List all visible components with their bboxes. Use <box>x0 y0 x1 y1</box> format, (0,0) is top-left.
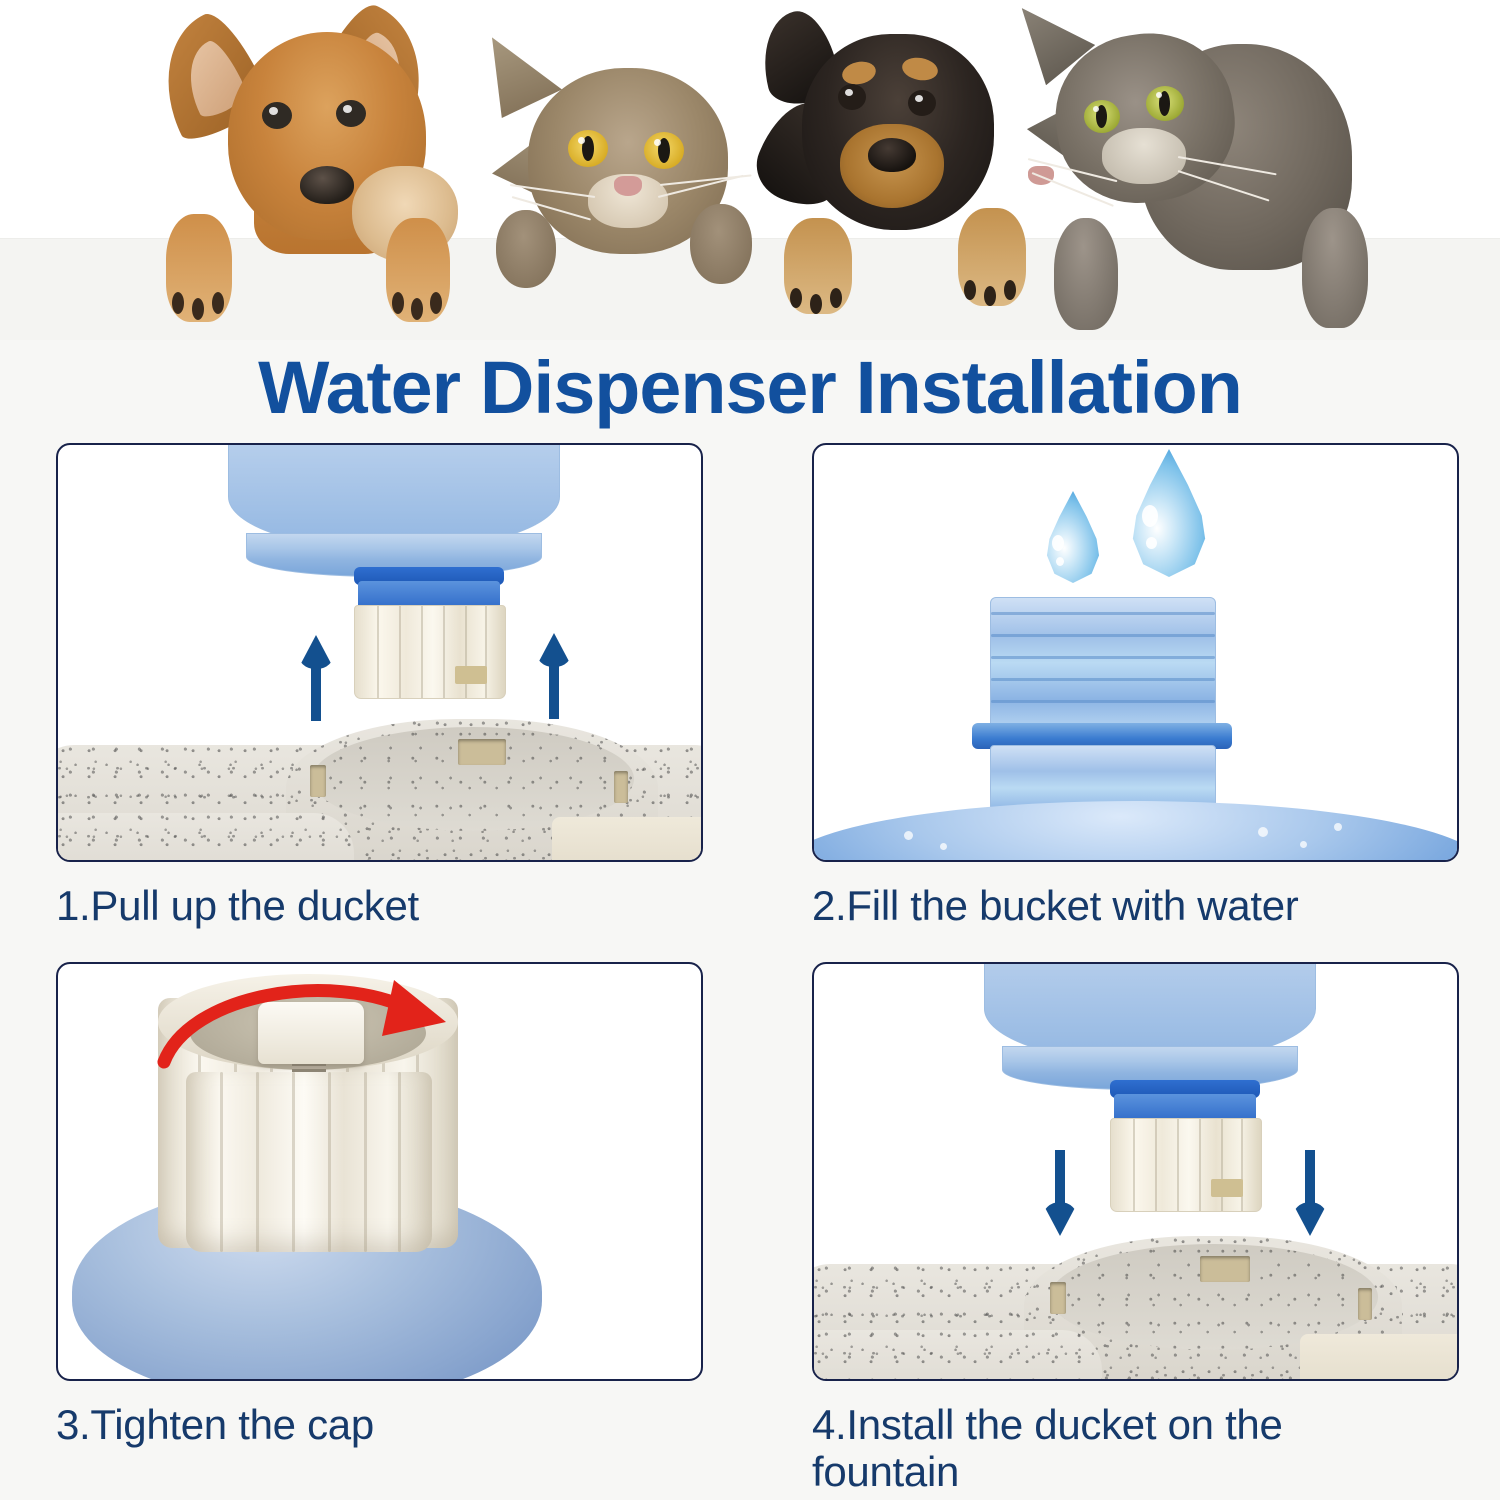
rotate-arrow-icon <box>150 976 470 1086</box>
fountain-slot-center-4 <box>1200 1256 1250 1282</box>
pet-photo-dog-ginger <box>150 6 500 326</box>
water-bead-5 <box>1334 823 1342 831</box>
step-card-4: 4.Install the ducket on the fountain <box>812 962 1457 1495</box>
step-1-image-panel <box>56 443 703 862</box>
fountain-slot-center <box>458 739 506 765</box>
step-4-image-panel <box>812 962 1459 1381</box>
step-3-illustration <box>58 964 701 1379</box>
pet-photo-cat-brown-tabby <box>492 34 772 326</box>
water-droplet-small-icon <box>1042 491 1104 583</box>
cat-eye-right <box>644 132 684 169</box>
gray-cat-paw-right <box>1302 208 1368 328</box>
cap-key-notch <box>455 666 487 684</box>
puppy-eye-right <box>908 90 936 116</box>
step-2-illustration <box>814 445 1457 860</box>
dog-paw-right <box>386 218 450 322</box>
step-card-3: 3.Tighten the cap <box>56 962 701 1448</box>
step-card-1: 1.Pull up the ducket <box>56 443 701 929</box>
fountain-front-lip-4 <box>812 1330 1102 1381</box>
cat-paw-right <box>690 204 752 284</box>
puppy-paw-right <box>958 208 1026 306</box>
pet-banner <box>0 0 1500 340</box>
fountain-slot-right-4 <box>1358 1288 1372 1320</box>
step-4-caption-line2: fountain <box>812 1448 1457 1495</box>
cap-inner-collar <box>186 1072 432 1252</box>
water-bead-4 <box>1300 841 1307 848</box>
step-1-caption: 1.Pull up the ducket <box>56 882 701 929</box>
dog-nose <box>300 166 354 204</box>
ducket-cap-4 <box>1110 1118 1262 1212</box>
cat-eye-left <box>568 130 608 167</box>
puppy-eye-left <box>838 84 866 110</box>
step-2-caption-line1: 2.Fill the bucket with water <box>812 882 1457 929</box>
dog-eye-right <box>336 100 366 127</box>
pet-photo-dog-black-tan-puppy <box>762 12 1062 322</box>
fountain-cream-body <box>552 817 703 862</box>
puppy-paw-left <box>784 218 852 314</box>
dog-head <box>228 32 426 240</box>
water-bead-3 <box>1258 827 1268 837</box>
arrow-down-left-icon <box>1042 1150 1078 1236</box>
step-4-caption: 4.Install the ducket on the fountain <box>812 1401 1457 1495</box>
gray-cat-paw-left <box>1054 218 1118 330</box>
ducket-cap <box>354 605 506 699</box>
fountain-slot-right <box>614 771 628 803</box>
gray-cat-muzzle <box>1102 128 1186 184</box>
gray-cat-eye-left <box>1084 100 1120 133</box>
step-4-illustration <box>814 964 1457 1379</box>
dog-eye-left <box>262 102 292 129</box>
cap-key-notch-4 <box>1211 1179 1243 1197</box>
pet-photo-cat-gray-longhair <box>1028 0 1400 340</box>
gray-cat-eye-right <box>1146 86 1184 121</box>
steps-grid: 1.Pull up the ducket <box>0 443 1500 1500</box>
water-droplet-large-icon <box>1126 449 1212 577</box>
step-1-illustration <box>58 445 701 860</box>
water-bead-1 <box>904 831 913 840</box>
cat-paw-left <box>496 210 556 288</box>
step-2-image-panel <box>812 443 1459 862</box>
step-3-caption: 3.Tighten the cap <box>56 1401 701 1448</box>
water-bead-2 <box>940 843 947 850</box>
step-4-caption-line1: 4.Install the ducket on the <box>812 1401 1457 1448</box>
arrow-up-right-icon <box>536 633 572 719</box>
step-2-caption: 2.Fill the bucket with water <box>812 882 1457 929</box>
arrow-down-right-icon <box>1292 1150 1328 1236</box>
fountain-slot-left-4 <box>1050 1282 1066 1314</box>
dog-paw-left <box>166 214 232 322</box>
step-card-2: 2.Fill the bucket with water <box>812 443 1457 929</box>
fountain-front-lip <box>56 813 354 862</box>
step-3-caption-line1: 3.Tighten the cap <box>56 1401 701 1448</box>
cat-nose <box>614 176 642 196</box>
page-title: Water Dispenser Installation <box>0 340 1500 435</box>
bottle-thread-neck <box>990 597 1216 729</box>
step-1-caption-line1: 1.Pull up the ducket <box>56 882 701 929</box>
puppy-nose <box>868 138 916 172</box>
arrow-up-left-icon <box>298 635 334 721</box>
fountain-cream-body-4 <box>1300 1334 1459 1381</box>
step-3-image-panel <box>56 962 703 1381</box>
fountain-slot-left <box>310 765 326 797</box>
